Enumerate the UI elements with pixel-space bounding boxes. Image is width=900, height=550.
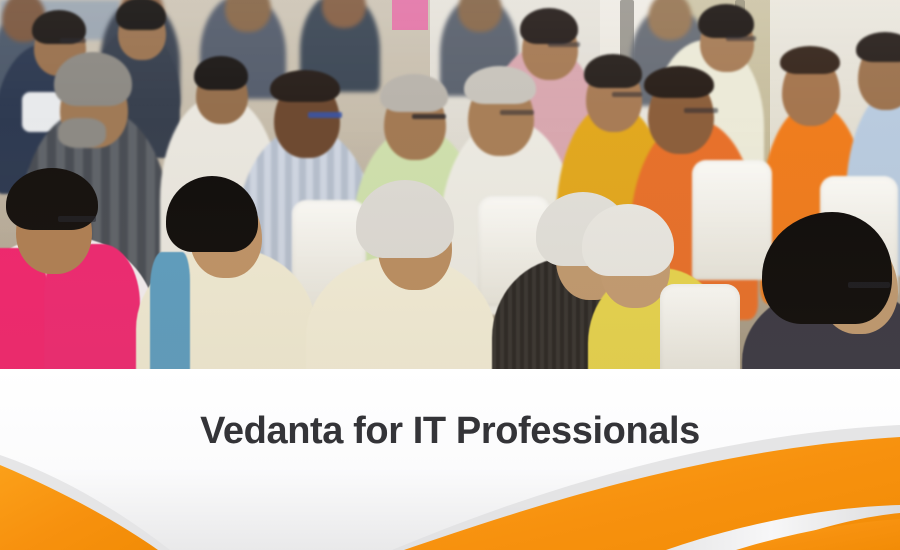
decorative-swooshes	[0, 369, 900, 550]
event-banner-card: Vedanta for IT Professionals	[0, 0, 900, 550]
page-title: Vedanta for IT Professionals	[0, 410, 900, 453]
wall-poster	[392, 0, 428, 30]
audience-photo	[0, 0, 900, 369]
title-band: Vedanta for IT Professionals	[0, 369, 900, 550]
chair-back	[692, 160, 772, 280]
